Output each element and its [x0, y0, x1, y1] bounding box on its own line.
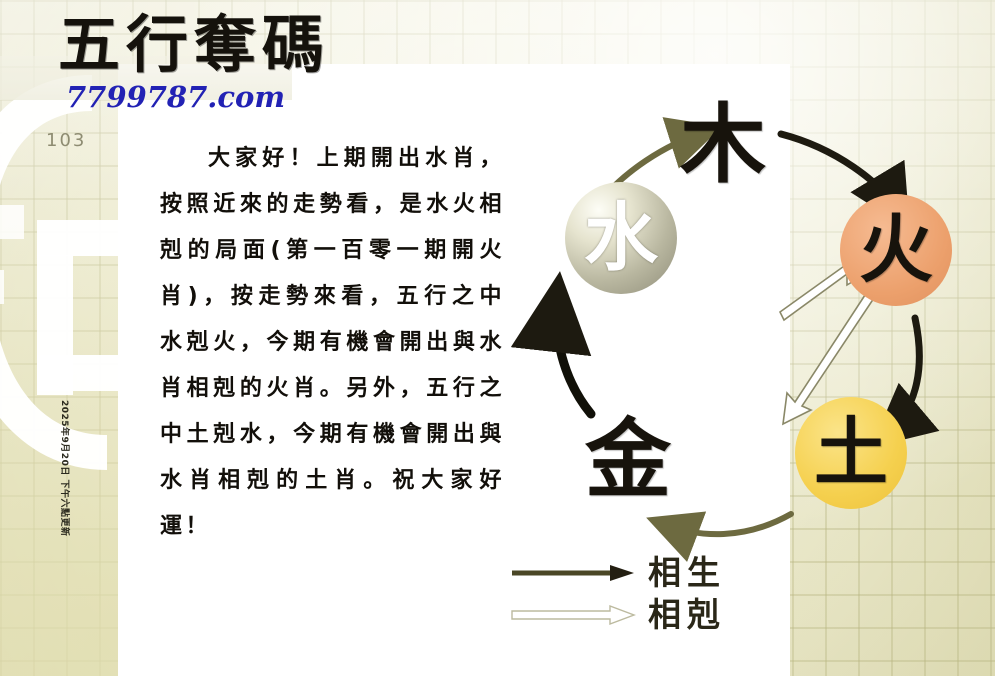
article-body: 大家好！上期開出水肖，按照近來的走勢看，是水火相剋的局面(第一百零一期開火肖)，… — [160, 136, 505, 550]
page-stage: 103 五行奪碼 7799787.com 2025年9月20日 下午六點更新 大… — [0, 0, 995, 676]
element-earth[interactable]: 土 — [795, 397, 907, 509]
page-title: 五行奪碼 — [58, 14, 330, 76]
issue-number: 103 — [46, 130, 86, 151]
element-fire[interactable]: 火 — [840, 194, 952, 306]
legend-item-sheng: 相生 — [510, 556, 726, 589]
sheng-arc-earth-to-metal — [663, 514, 791, 534]
outline-white-arrow-icon — [510, 605, 638, 625]
five-element-diagram: 木 火 土 金 水 — [495, 62, 995, 622]
diagram-legend: 相生 相剋 — [510, 550, 770, 650]
solid-dark-arrow-icon — [510, 563, 638, 583]
element-wood[interactable]: 木 — [680, 102, 766, 188]
date-stamp: 2025年9月20日 下午六點更新 — [59, 400, 72, 536]
element-metal[interactable]: 金 — [585, 417, 671, 503]
brand-url[interactable]: 7799787.com — [66, 80, 285, 114]
legend-label-sheng: 相生 — [648, 556, 726, 589]
legend-label-ke: 相剋 — [648, 598, 726, 631]
sheng-arc-metal-to-water — [556, 298, 591, 414]
legend-item-ke: 相剋 — [510, 598, 726, 631]
element-water[interactable]: 水 — [565, 182, 677, 294]
